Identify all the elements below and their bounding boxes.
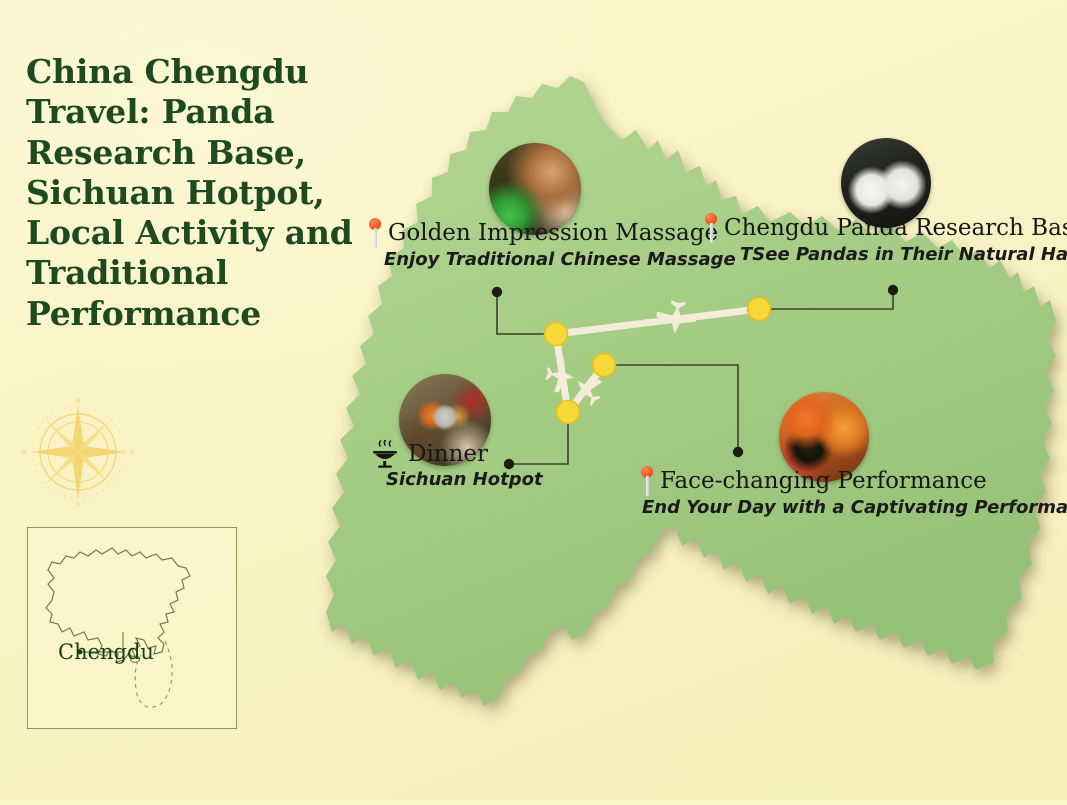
performance-title: Face-changing Performance bbox=[660, 469, 987, 493]
svg-text:N: N bbox=[75, 397, 80, 405]
panda-title-row: Chengdu Panda Research Base bbox=[704, 213, 1067, 243]
dinner-title-row: Dinner bbox=[368, 440, 543, 468]
map-pin-icon bbox=[368, 218, 382, 248]
map-pin-icon bbox=[704, 213, 718, 243]
label-golden-impression-massage[interactable]: Golden Impression Massage Enjoy Traditio… bbox=[368, 218, 736, 271]
svg-text:S: S bbox=[76, 501, 80, 509]
label-dinner[interactable]: Dinner Sichuan Hotpot bbox=[368, 440, 543, 491]
infographic-poster: China Chengdu Travel: Panda Research Bas… bbox=[0, 0, 1067, 800]
svg-text:E: E bbox=[130, 449, 134, 457]
hotpot-bowl-icon bbox=[368, 440, 402, 468]
map-pin-icon bbox=[640, 466, 654, 496]
panda-title: Chengdu Panda Research Base bbox=[724, 216, 1067, 240]
label-chengdu-panda-research-base[interactable]: Chengdu Panda Research Base TSee Pandas … bbox=[704, 213, 1067, 266]
dinner-subtitle: Sichuan Hotpot bbox=[386, 470, 543, 491]
panda-subtitle: TSee Pandas in Their Natural Habitat bbox=[740, 245, 1067, 266]
massage-title-row: Golden Impression Massage bbox=[368, 218, 736, 248]
dinner-title: Dinner bbox=[408, 442, 488, 466]
performance-subtitle: End Your Day with a Captivating Performa… bbox=[642, 498, 1067, 519]
china-outline-svg bbox=[28, 528, 236, 728]
page-title: China Chengdu Travel: Panda Research Bas… bbox=[26, 52, 376, 334]
massage-title: Golden Impression Massage bbox=[388, 221, 718, 245]
performance-title-row: Face-changing Performance bbox=[640, 466, 1067, 496]
svg-text:W: W bbox=[21, 449, 28, 457]
massage-subtitle: Enjoy Traditional Chinese Massage bbox=[384, 250, 736, 271]
compass-rose-icon: NS WE bbox=[18, 393, 138, 511]
label-face-changing-performance[interactable]: Face-changing Performance End Your Day w… bbox=[640, 466, 1067, 519]
china-inset-map: Chengdu bbox=[27, 527, 237, 729]
inset-city-label: Chengdu bbox=[58, 640, 154, 664]
